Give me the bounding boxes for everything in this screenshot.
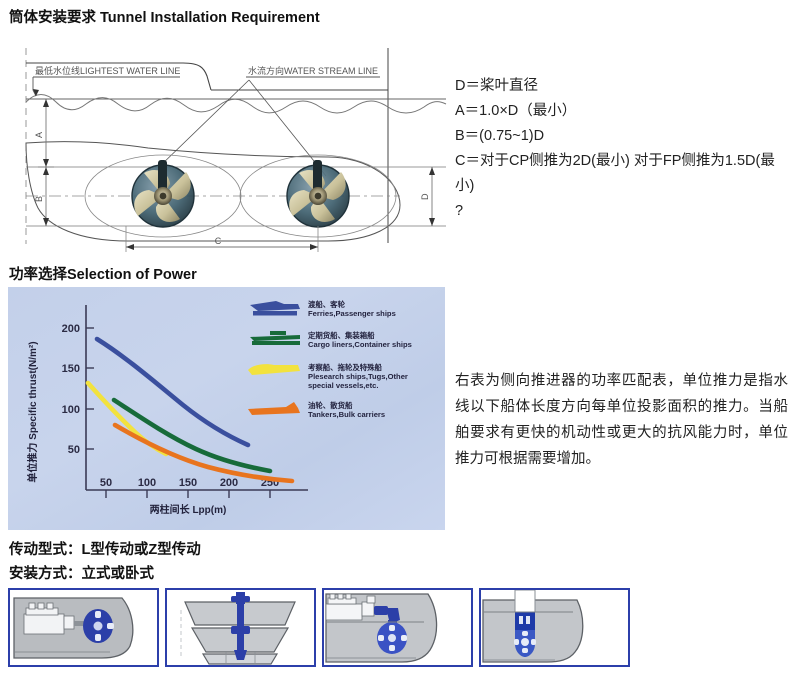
x-tick-150: 150 <box>179 477 197 489</box>
thumbnail-horizontal-engine-tunnel-thruster[interactable] <box>8 588 159 667</box>
hull-bow-curve <box>183 63 211 90</box>
legend-label-en-1: Cargo liners,Container ships <box>308 340 412 349</box>
curve-research-tugs <box>88 383 166 454</box>
thruster-propeller <box>377 622 407 654</box>
x-axis-label: 两柱间长 Lpp(m) <box>150 503 227 516</box>
mount-type-label: 安装方式：立式或卧式 <box>9 562 154 583</box>
installation-thumbnail-row <box>8 588 642 667</box>
y-tick-100: 100 <box>62 404 80 416</box>
dimension-label-a: A <box>34 132 44 138</box>
legend-label-en-3: Tankers,Bulk carriers <box>308 410 385 419</box>
legend-label-cn-1: 定期货船、集装箱船 <box>308 331 375 340</box>
legend-label-en-0: Ferries,Passenger ships <box>308 309 396 318</box>
formula-line-c: C＝对于CP侧推为2D(最小) 对于FP侧推为1.5D(最小) <box>455 149 785 199</box>
tunnel-installation-diagram: 最低水位线LIGHTEST WATER LINE 水流方向WATER STREA… <box>8 30 448 258</box>
x-tick-100: 100 <box>138 477 156 489</box>
legend-marker-cargo <box>250 331 300 345</box>
formula-list: D＝桨叶直径 A＝1.0×D（最小） B＝(0.75~1)D C＝对于CP侧推为… <box>455 74 785 224</box>
legend-label-en-2b: special vessels,etc. <box>308 381 379 390</box>
drive-type-label: 传动型式：L型传动或Z型传动 <box>9 538 201 559</box>
thumbnail-vertical-l-drive-shaft[interactable] <box>165 588 316 667</box>
thumbnail-engine-z-drive-tunnel[interactable] <box>322 588 473 667</box>
page-title-tunnel: 筒体安装要求 Tunnel Installation Requirement <box>9 6 320 27</box>
formula-line-d: D＝桨叶直径 <box>455 74 785 99</box>
legend-label-cn-3: 油轮、散货船 <box>308 401 353 410</box>
chart-legend: 渡船、客轮 Ferries,Passenger ships 定期货船、集装箱船 … <box>248 300 412 419</box>
legend-marker-tankers <box>248 402 300 415</box>
x-axis-ticks <box>106 490 270 498</box>
dimension-label-b: B <box>34 196 44 202</box>
dimension-label-d: D <box>420 193 430 200</box>
x-tick-50: 50 <box>100 477 112 489</box>
y-tick-50: 50 <box>68 444 80 456</box>
formula-line-question: ? <box>455 199 785 224</box>
water-wave-line <box>26 95 446 114</box>
propeller-unit-2 <box>287 160 349 227</box>
chart-description-text: 右表为侧向推进器的功率匹配表，单位推力是指水线以下船体长度方向每单位投影面积的推… <box>455 368 788 472</box>
formula-line-b: B＝(0.75~1)D <box>455 124 785 149</box>
page-title-power: 功率选择Selection of Power <box>9 263 197 284</box>
legend-label-cn-0: 渡船、客轮 <box>308 300 346 309</box>
legend-marker-ferries <box>250 301 300 316</box>
y-tick-150: 150 <box>62 363 80 375</box>
x-tick-200: 200 <box>220 477 238 489</box>
y-axis-label: 单位推力 Specific thrust(N/m²) <box>26 341 39 482</box>
label-water-stream-line: 水流方向WATER STREAM LINE <box>248 65 378 76</box>
label-lightest-water-line: 最低水位线LIGHTEST WATER LINE <box>35 65 180 76</box>
engine-block <box>326 594 375 620</box>
propeller-unit-1 <box>132 160 194 227</box>
thumbnail-vertical-thruster-narrow-hull[interactable] <box>479 588 630 667</box>
formula-line-a: A＝1.0×D（最小） <box>455 99 785 124</box>
vertical-thruster-unit <box>514 612 536 657</box>
power-selection-chart: 200 150 100 50 50 100 150 200 250 单位推力 S… <box>8 287 445 530</box>
legend-label-en-2a: Plesearch ships,Tugs,Other <box>308 372 408 381</box>
dimension-label-c: C <box>215 236 222 246</box>
legend-marker-research <box>248 364 300 375</box>
legend-label-cn-2: 考察船、拖轮及特殊船 <box>308 363 383 372</box>
y-tick-200: 200 <box>62 323 80 335</box>
upper-trunk <box>515 590 535 612</box>
